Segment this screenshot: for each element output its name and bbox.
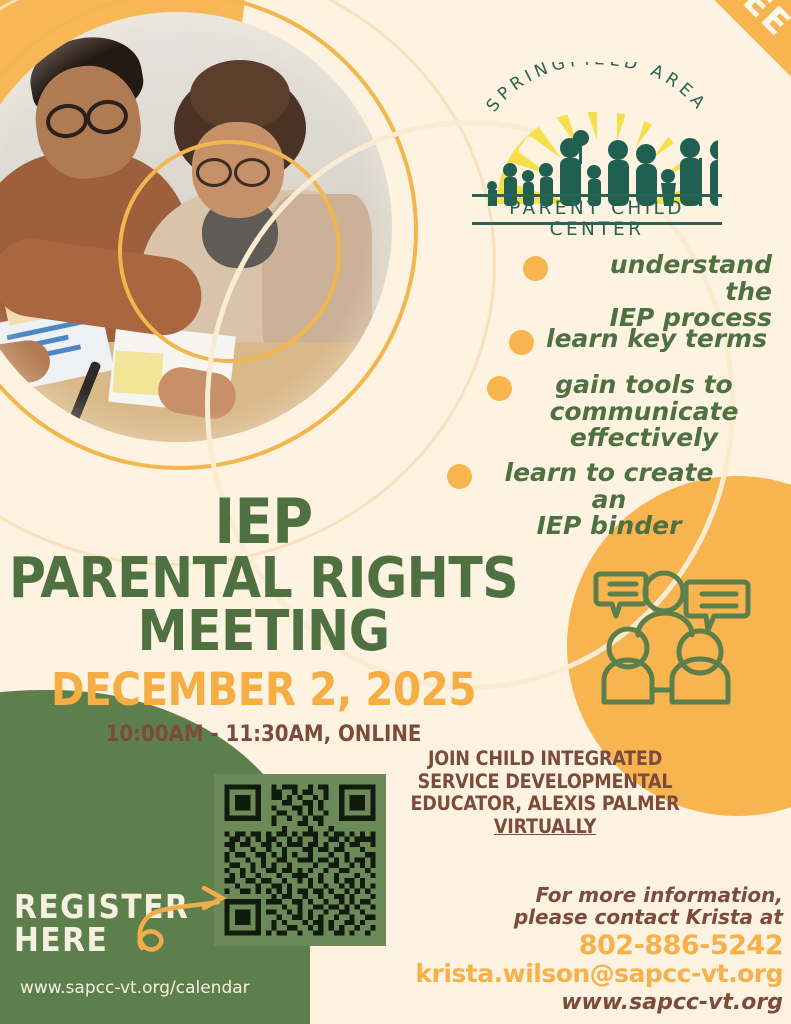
- headline-line-2: PARENTAL RIGHTS: [0, 552, 527, 606]
- contact-info-line-1: For more information,: [371, 884, 783, 906]
- benefit-line: effectively: [524, 425, 764, 452]
- logo-family-silhouettes: [478, 114, 718, 206]
- bullet-dot-icon: [509, 330, 534, 355]
- presenter-line-2: SERVICE DEVELOPMENTAL: [395, 771, 695, 794]
- presenter-virtually: VIRTUALLY: [395, 816, 695, 839]
- register-url[interactable]: www.sapcc-vt.org/calendar: [20, 978, 250, 998]
- flyer-page: FREE SPRINGFIELD AREA: [0, 0, 791, 1024]
- benefit-item: learn key terms: [509, 326, 767, 355]
- discussion-group-icon: [588, 560, 758, 705]
- benefit-line: communicate: [524, 399, 764, 426]
- presenter-block: JOIN CHILD INTEGRATED SERVICE DEVELOPMEN…: [395, 748, 695, 838]
- event-time: 10:00AM - 11:30AM, ONLINE: [0, 722, 527, 747]
- presenter-line-1: JOIN CHILD INTEGRATED: [395, 748, 695, 771]
- organization-logo: SPRINGFIELD AREA: [462, 62, 732, 222]
- headline-line-3: MEETING: [0, 605, 527, 659]
- bullet-dot-icon: [447, 464, 472, 489]
- qr-code-container[interactable]: [214, 774, 386, 946]
- free-badge-label: FREE: [697, 0, 791, 45]
- contact-website[interactable]: www.sapcc-vt.org: [371, 990, 783, 1016]
- event-headline: IEP PARENTAL RIGHTS MEETING DECEMBER 2, …: [0, 492, 527, 747]
- curly-arrow-icon: [128, 882, 238, 962]
- benefit-line: understand the: [558, 252, 772, 305]
- benefit-line: learn key terms: [546, 326, 767, 353]
- contact-email[interactable]: krista.wilson@sapcc-vt.org: [371, 960, 783, 988]
- qr-code[interactable]: [214, 774, 386, 946]
- contact-phone[interactable]: 802-886-5242: [371, 931, 783, 961]
- event-date: DECEMBER 2, 2025: [0, 663, 527, 716]
- contact-block: For more information, please contact Kri…: [371, 884, 783, 1016]
- benefit-item: gain tools to communicate effectively: [487, 372, 764, 452]
- headline-line-1: IEP: [0, 492, 527, 552]
- bullet-dot-icon: [523, 256, 548, 281]
- contact-info-line-2: please contact Krista at: [371, 906, 783, 928]
- presenter-line-3: EDUCATOR, ALEXIS PALMER: [395, 793, 695, 816]
- logo-name-text: PARENT CHILD CENTER: [462, 198, 732, 240]
- benefit-item: understand the IEP process: [523, 252, 772, 332]
- bullet-dot-icon: [487, 376, 512, 401]
- benefit-line: gain tools to: [524, 372, 764, 399]
